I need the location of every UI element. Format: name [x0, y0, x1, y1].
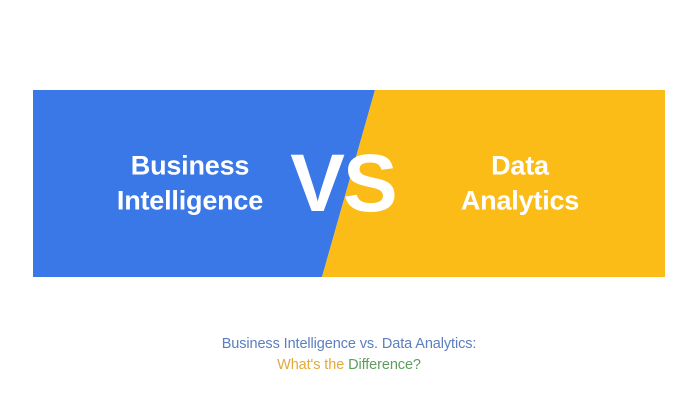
banner-text-layer: Business Intelligence VS Data Analytics [33, 90, 665, 277]
caption: Business Intelligence vs. Data Analytics… [0, 334, 698, 375]
caption-line-2-part-2: Difference? [348, 357, 421, 373]
right-panel-label: Data Analytics [385, 148, 655, 219]
caption-line-2: What's the Difference? [0, 355, 698, 376]
caption-line-2-part-1: What's the [277, 357, 348, 373]
page-canvas: Business Intelligence VS Data Analytics … [0, 0, 698, 400]
right-panel-label-line-2: Analytics [385, 184, 655, 220]
right-panel-label-line-1: Data [385, 148, 655, 184]
versus-banner: Business Intelligence VS Data Analytics [33, 90, 665, 277]
caption-line-1: Business Intelligence vs. Data Analytics… [0, 334, 698, 355]
